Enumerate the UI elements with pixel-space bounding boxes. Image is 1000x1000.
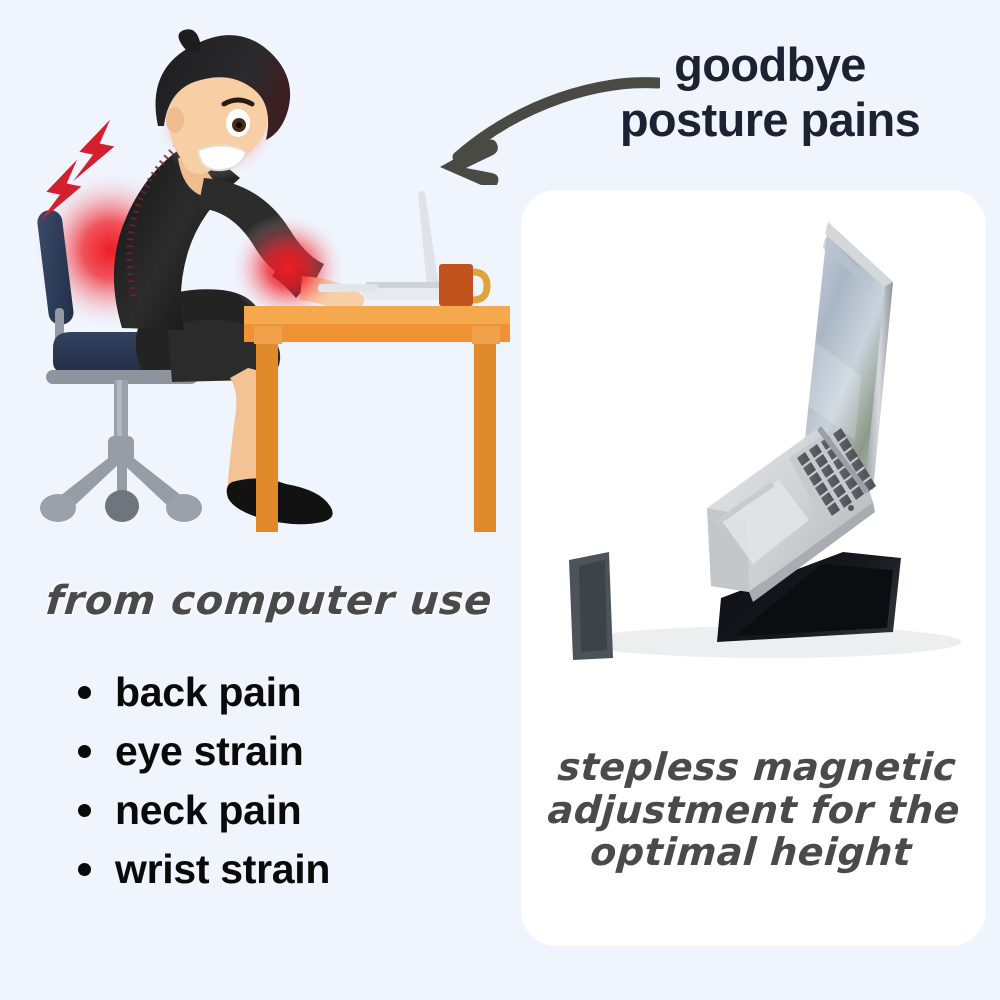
page-title: goodbye posture pains bbox=[560, 38, 980, 148]
poster-canvas: goodbye posture pains from computer use … bbox=[0, 0, 1000, 1000]
caption-line-1: stepless magnetic bbox=[540, 746, 973, 789]
laptop-stand-photo bbox=[521, 190, 986, 695]
product-card: stepless magnetic adjustment for the opt… bbox=[521, 190, 986, 946]
list-item-label: wrist strain bbox=[115, 849, 330, 890]
list-item-label: eye strain bbox=[115, 731, 303, 772]
bullet-dot-icon bbox=[78, 863, 91, 876]
headline-line-2: posture pains bbox=[560, 93, 980, 148]
bullet-dot-icon bbox=[78, 745, 91, 758]
list-item: back pain bbox=[78, 672, 330, 713]
list-item: neck pain bbox=[78, 790, 330, 831]
subtitle-from-computer-use: from computer use bbox=[44, 578, 495, 624]
bullet-dot-icon bbox=[78, 804, 91, 817]
list-item: wrist strain bbox=[78, 849, 330, 890]
headline-line-1: goodbye bbox=[560, 38, 980, 93]
symptom-list: back pain eye strain neck pain wrist str… bbox=[78, 672, 330, 908]
list-item-label: back pain bbox=[115, 672, 301, 713]
caption-line-2: adjustment for the bbox=[538, 789, 971, 832]
product-caption: stepless magnetic adjustment for the opt… bbox=[535, 746, 974, 874]
list-item-label: neck pain bbox=[115, 790, 301, 831]
list-item: eye strain bbox=[78, 731, 330, 772]
bullet-dot-icon bbox=[78, 686, 91, 699]
caption-line-3: optimal height bbox=[535, 831, 968, 874]
